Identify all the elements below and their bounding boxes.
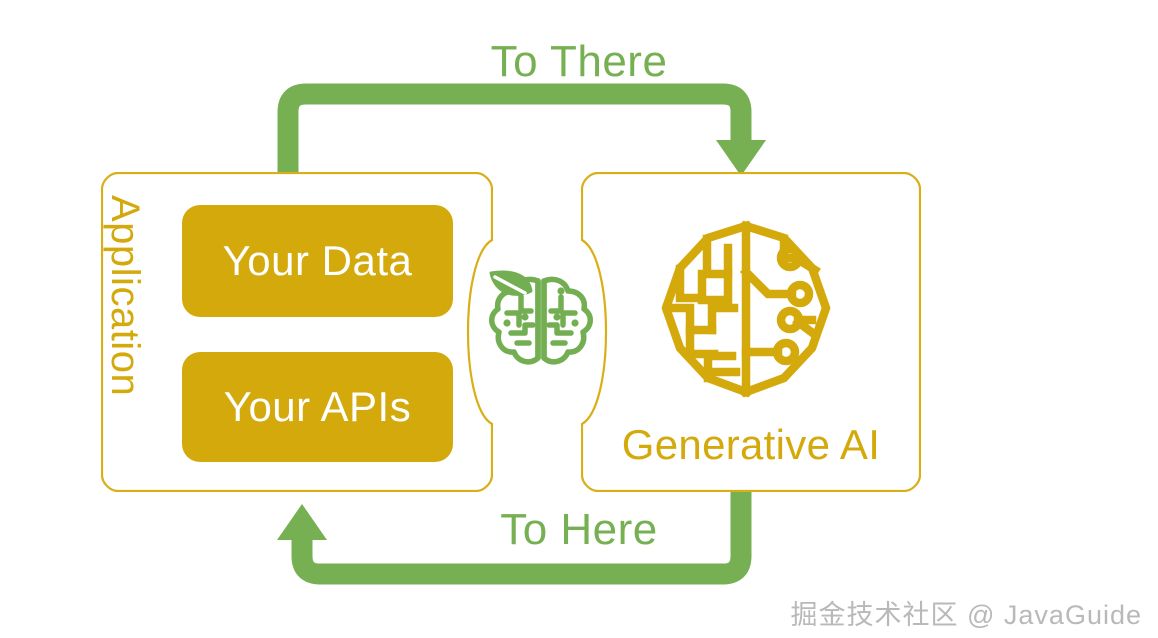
top-arrow-label: To There: [0, 40, 1158, 84]
top-arrow-to-there: [288, 94, 766, 176]
diagram-canvas: To There To Here Application Your Data Y…: [0, 0, 1158, 638]
spring-ai-leaf-brain-icon: [481, 267, 601, 371]
watermark-text: 掘金技术社区 @ JavaGuide: [791, 593, 1143, 632]
generative-ai-label: Generative AI: [581, 424, 921, 466]
bottom-arrow-label: To Here: [0, 508, 1158, 552]
your-data-box[interactable]: Your Data: [182, 205, 453, 317]
your-apis-box[interactable]: Your APIs: [182, 352, 453, 462]
application-panel-title: Application: [105, 195, 145, 465]
hexagonal-circuit-brain-icon: [650, 212, 842, 408]
